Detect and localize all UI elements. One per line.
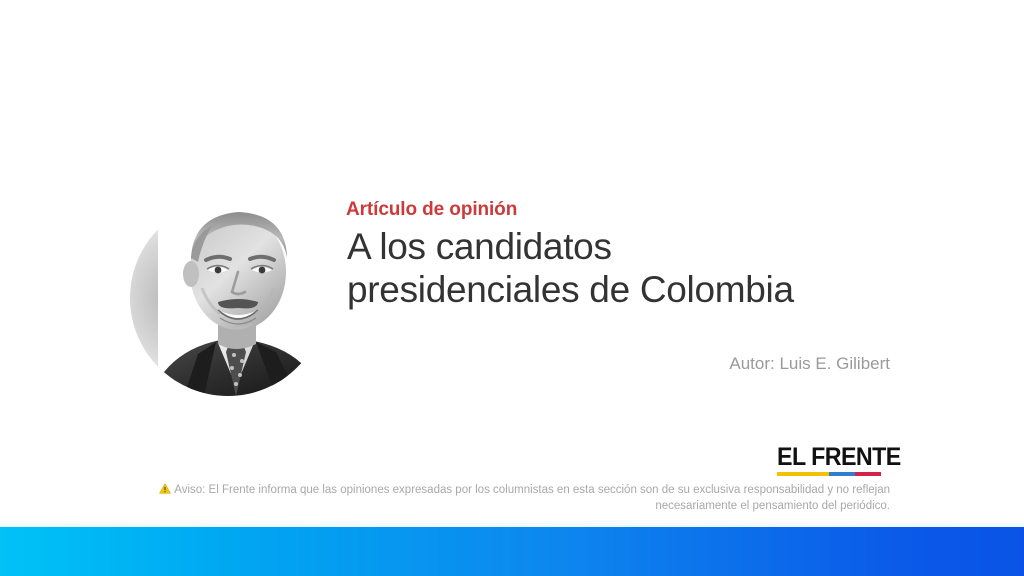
disclaimer-text: Aviso: El Frente informa que las opinion… [174, 484, 890, 512]
flag-segment-yellow [777, 472, 829, 476]
article-kicker: Artículo de opinión [346, 199, 517, 221]
headline-line-1: A los candidatos [347, 225, 907, 268]
bottom-gradient-band [0, 527, 1024, 576]
logo-wordmark: EL FRENTE [777, 444, 876, 470]
author-portrait [130, 200, 326, 396]
page-title: A los candidatos presidenciales de Colom… [347, 225, 907, 311]
opinion-article-slide: Artículo de opinión A los candidatos pre… [0, 0, 1024, 576]
article-author: Autor: Luis E. Gilibert [430, 354, 890, 374]
el-frente-logo: EL FRENTE [777, 444, 883, 476]
disclaimer-notice: Aviso: El Frente informa que las opinion… [148, 483, 890, 514]
portrait-photo [158, 200, 326, 396]
logo-flag-bar [777, 472, 881, 476]
headline-line-2: presidenciales de Colombia [347, 268, 907, 311]
flag-segment-blue [829, 472, 855, 476]
warning-triangle-icon [159, 483, 171, 499]
flag-segment-red [855, 472, 881, 476]
